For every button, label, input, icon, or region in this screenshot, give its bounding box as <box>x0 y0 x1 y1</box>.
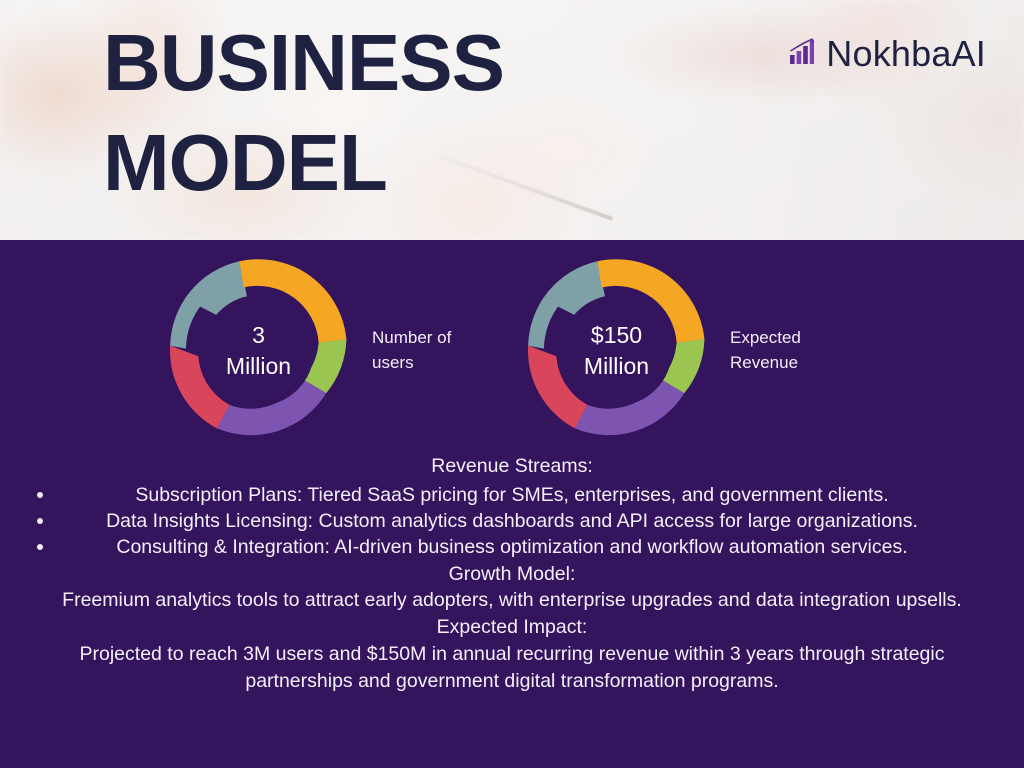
chart-number-of-users: 3 Million Number of users <box>163 255 451 446</box>
expected-impact-heading: Expected Impact: <box>26 614 998 641</box>
bar-chart-icon <box>789 38 815 70</box>
header-banner: BUSINESS MODEL NokhbaAI <box>0 0 1024 240</box>
list-item-text: Subscription Plans: Tiered SaaS pricing … <box>135 484 888 506</box>
content-text-block: Revenue Streams: Subscription Plans: Tie… <box>0 453 1024 695</box>
chart-expected-revenue: $150 Million Expected Revenue <box>521 255 801 446</box>
bullet-icon <box>37 518 43 524</box>
body-area: 3 Million Number of users <box>0 240 1024 768</box>
brand-logo[interactable]: NokhbaAI <box>789 33 986 75</box>
bullet-icon <box>37 544 43 550</box>
list-item: Data Insights Licensing: Custom analytic… <box>26 508 998 534</box>
title-line-2: MODEL <box>103 124 504 202</box>
brand-name: NokhbaAI <box>826 33 986 75</box>
list-item-text: Data Insights Licensing: Custom analytic… <box>106 510 918 532</box>
slide-root: BUSINESS MODEL NokhbaAI <box>0 0 1024 768</box>
chart-label-revenue-line1: Expected <box>730 326 801 350</box>
chart-label-users-line1: Number of <box>372 326 451 350</box>
donut-chart-users: 3 Million <box>163 255 354 446</box>
list-item-text: Consulting & Integration: AI-driven busi… <box>116 536 907 558</box>
growth-model-heading: Growth Model: <box>26 561 998 588</box>
page-title: BUSINESS MODEL <box>103 24 504 203</box>
donut-chart-revenue: $150 Million <box>521 255 712 446</box>
donut-hole <box>203 295 314 406</box>
bullet-icon <box>37 492 43 498</box>
list-item: Consulting & Integration: AI-driven busi… <box>26 534 998 560</box>
chart-label-revenue-line2: Revenue <box>730 351 801 375</box>
growth-model-text: Freemium analytics tools to attract earl… <box>26 587 998 614</box>
chart-label-users: Number of users <box>372 326 451 374</box>
revenue-streams-list: Subscription Plans: Tiered SaaS pricing … <box>26 482 998 561</box>
donut-hole <box>561 295 672 406</box>
chart-label-revenue: Expected Revenue <box>730 326 801 374</box>
list-item: Subscription Plans: Tiered SaaS pricing … <box>26 482 998 508</box>
chart-label-users-line2: users <box>372 351 451 375</box>
charts-row: 3 Million Number of users <box>0 240 1024 445</box>
expected-impact-text: Projected to reach 3M users and $150M in… <box>26 641 998 695</box>
revenue-streams-heading: Revenue Streams: <box>26 453 998 480</box>
title-line-1: BUSINESS <box>103 24 504 102</box>
